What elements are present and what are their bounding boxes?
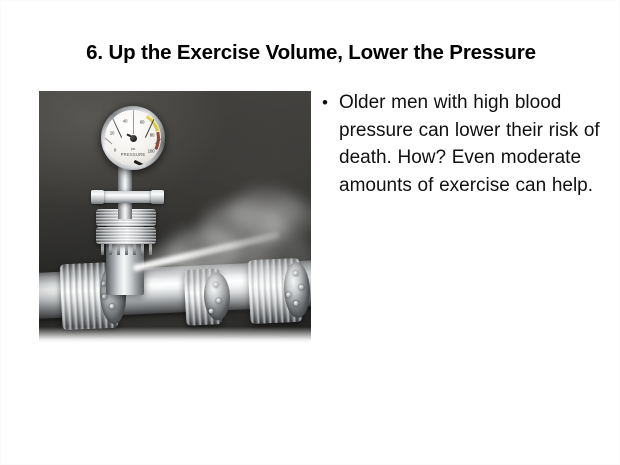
gauge-numeral: 40 [123,119,127,124]
cross-fitting-nut [151,190,164,204]
gauge-numeral: 20 [110,131,114,136]
flange-bolt [299,285,304,290]
flange-bolt [216,298,221,303]
valve-stud [101,244,104,255]
cross-fitting-nut [91,190,104,204]
bullet-text: Older men with high blood pressure can l… [339,89,609,199]
bullet-marker: • [319,89,339,117]
page-title: 6. Up the Exercise Volume, Lower the Pre… [1,41,620,65]
valve-collar-lower [96,227,156,244]
slide-image-pressure-pipe: 0 20 40 60 80 100 psi PRESSURE [39,91,311,343]
gauge-numeral: 80 [150,133,154,138]
body-text-block: • Older men with high blood pressure can… [319,89,609,199]
valve-stud [149,244,152,255]
gauge-numeral: 60 [140,120,144,125]
vapor-cloud [265,199,311,237]
flange-bolt [213,282,218,287]
flange-bolt [286,292,291,297]
flange-bolt [293,301,298,306]
photo-bottom-fade [39,327,311,343]
valve-stud [133,244,136,255]
presentation-slide: 6. Up the Exercise Volume, Lower the Pre… [0,0,620,465]
gauge-unit-label: psi [105,147,161,151]
valve-stud [125,244,128,255]
flange-bolt [209,309,214,314]
valve-stud [117,244,120,255]
list-item: • Older men with high blood pressure can… [319,89,609,199]
gauge-brand-label: PRESSURE [105,152,161,157]
pipe-flange-middle [184,268,223,326]
flange-bolt [102,294,107,299]
vapor-cloud [229,189,303,235]
gauge-tick [133,110,134,134]
gauge-needle-hub [130,135,137,142]
valve-stud [109,244,112,255]
cross-fitting-horizontal [97,191,155,203]
flange-bolt [109,304,114,309]
photo-backdrop: 0 20 40 60 80 100 psi PRESSURE [39,91,311,343]
vapor-cloud [201,203,285,253]
pipe-flange-right [248,258,303,324]
valve-stud [141,244,144,255]
pressure-gauge: 0 20 40 60 80 100 psi PRESSURE [101,106,165,170]
gauge-dial-face: 0 20 40 60 80 100 psi PRESSURE [105,110,161,166]
flange-bolt [293,271,298,276]
